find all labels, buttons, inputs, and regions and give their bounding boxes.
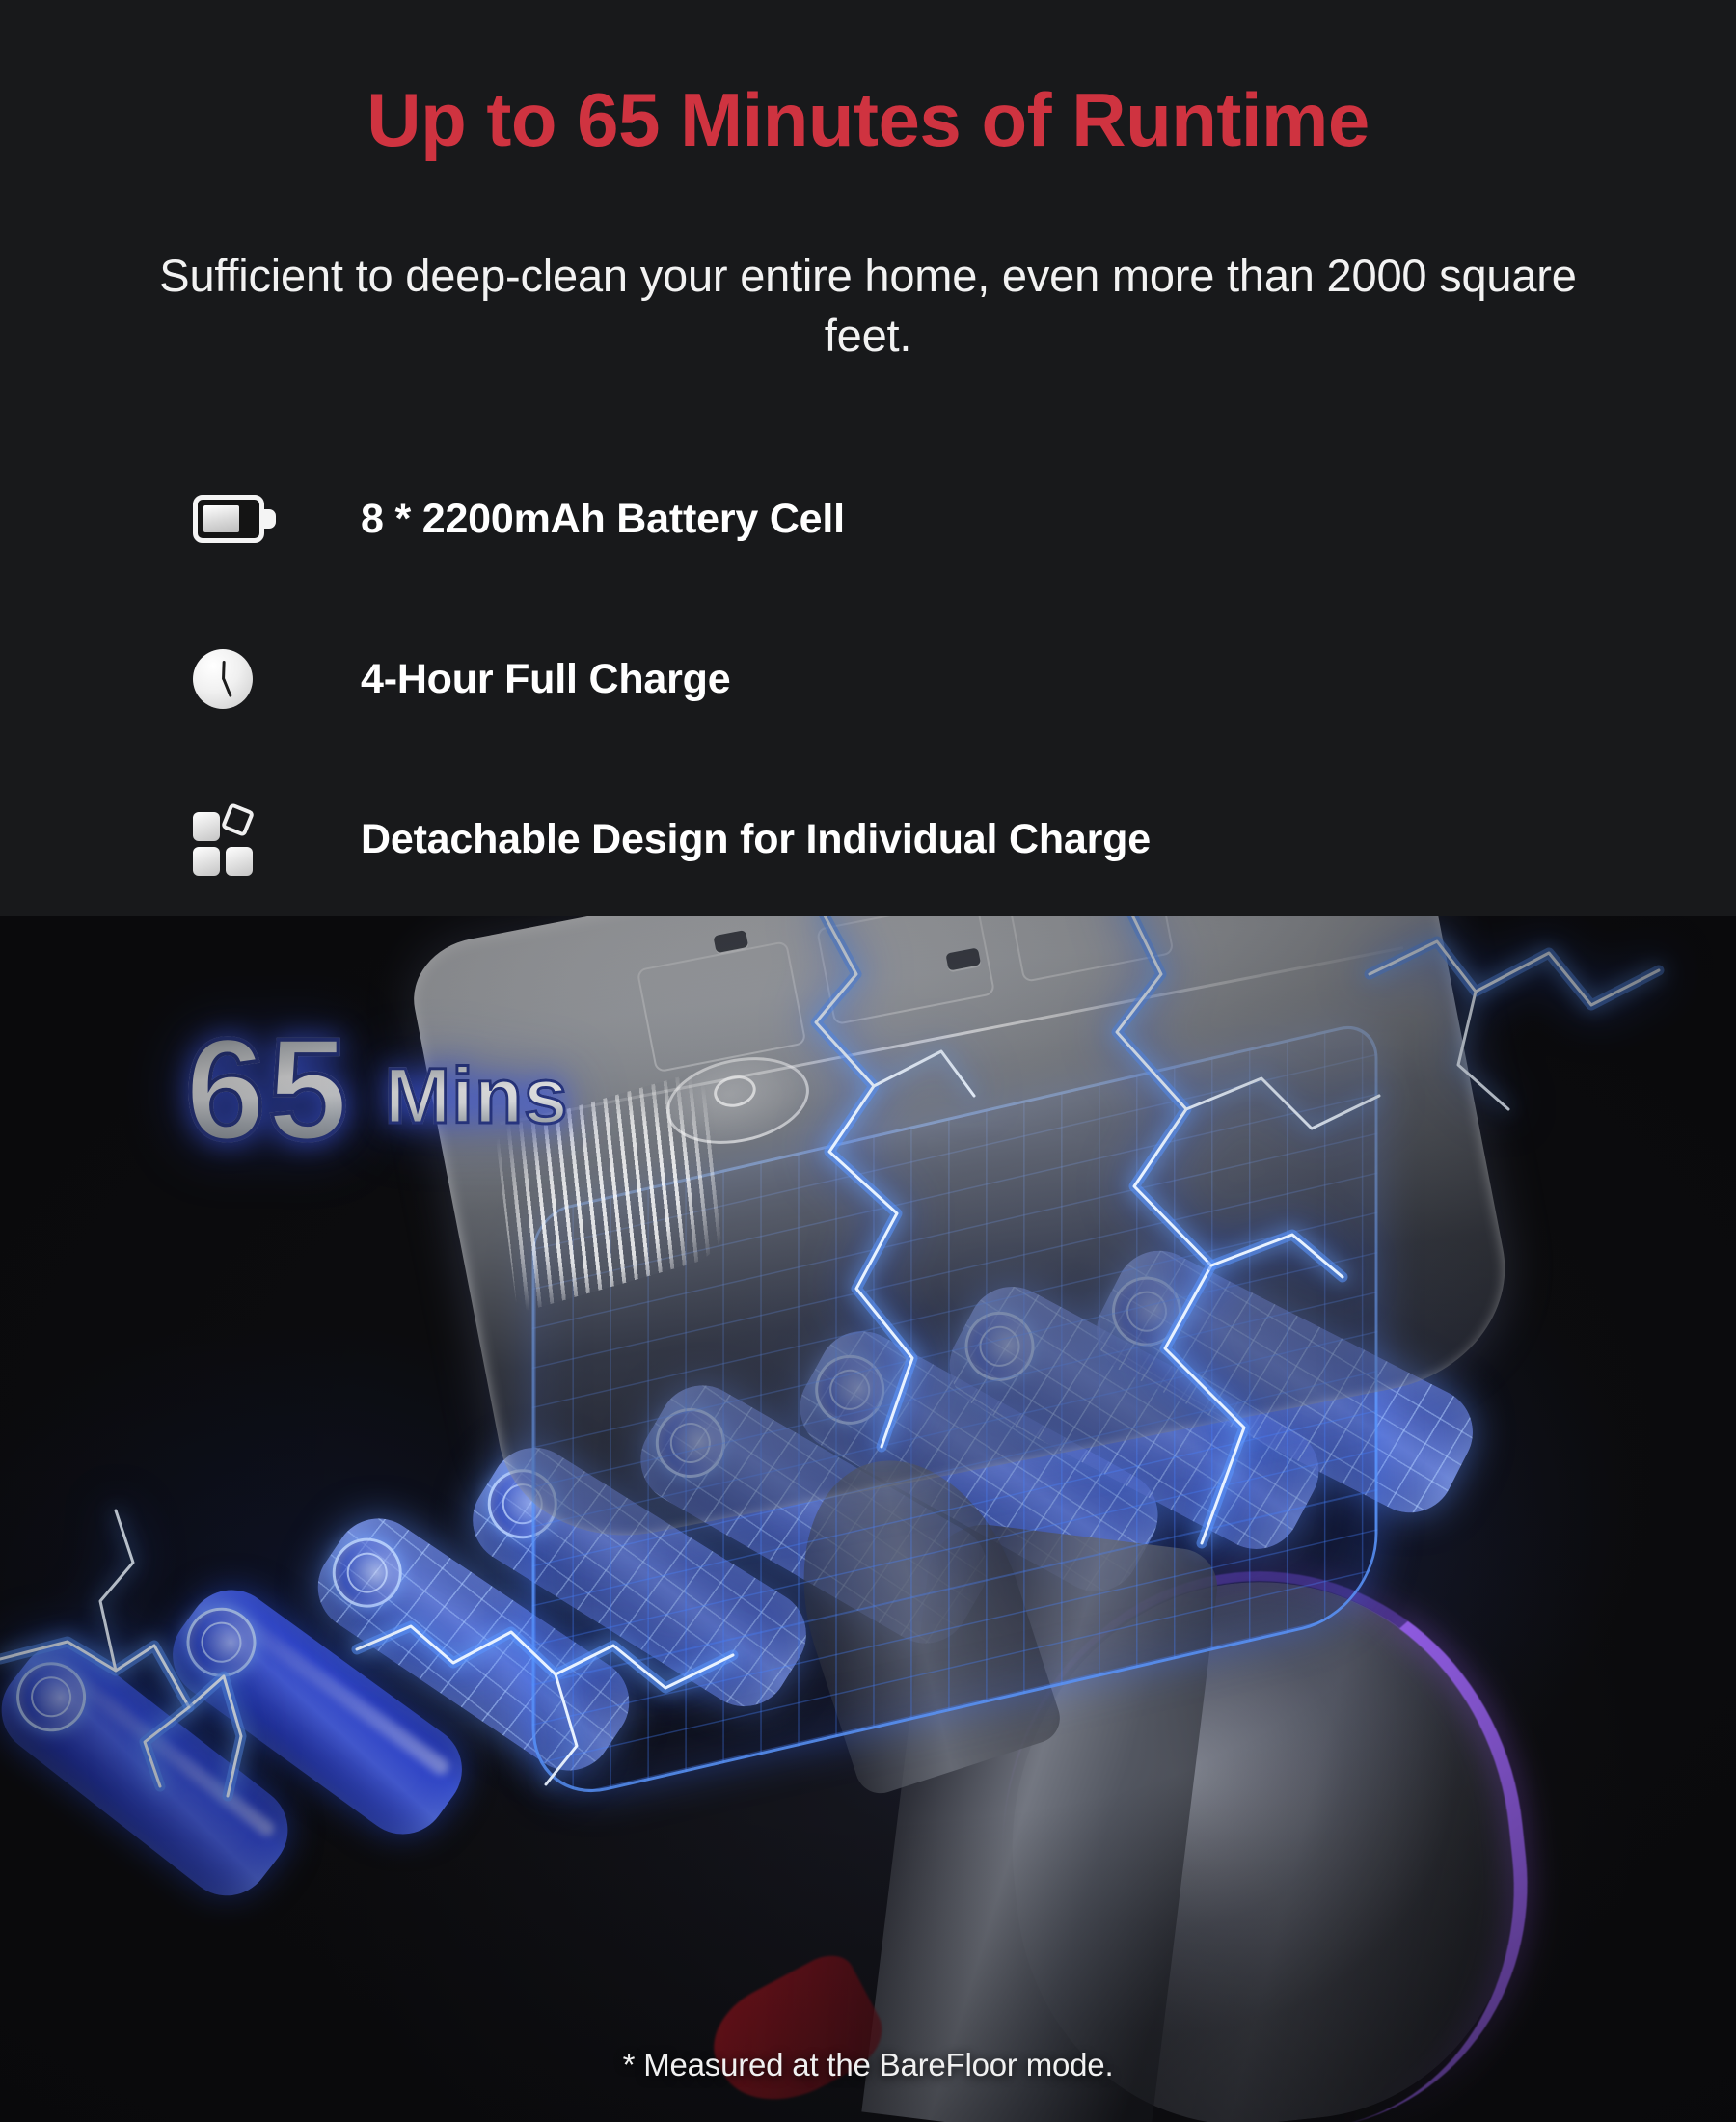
feature-item-battery: 8 * 2200mAh Battery Cell xyxy=(193,477,1543,560)
battery-icon-wrap xyxy=(193,477,285,560)
feature-label-detachable: Detachable Design for Individual Charge xyxy=(361,816,1151,863)
battery-fill xyxy=(203,505,239,532)
clock-icon xyxy=(193,649,253,709)
detach-block-bottom-left xyxy=(193,847,220,876)
battery-shell xyxy=(193,495,264,543)
product-hero-image: 65 Mins xyxy=(0,916,1736,2122)
feature-list: 8 * 2200mAh Battery Cell 4-Hour Full Cha… xyxy=(193,477,1543,958)
clock-icon-wrap xyxy=(193,638,285,721)
detach-block-top-left xyxy=(193,812,220,841)
promo-banner: Up to 65 Minutes of Runtime Sufficient t… xyxy=(0,0,1736,2122)
detachable-icon xyxy=(193,806,258,872)
housing-panel xyxy=(637,940,807,1073)
feature-label-battery: 8 * 2200mAh Battery Cell xyxy=(361,496,845,543)
detach-block-bottom-right xyxy=(226,847,253,876)
housing-panel xyxy=(816,916,995,1025)
runtime-value: 65 xyxy=(185,1022,350,1156)
detach-block-detached xyxy=(221,803,256,837)
battery-terminal xyxy=(264,509,276,529)
detachable-icon-wrap xyxy=(193,798,285,881)
feature-item-detachable: Detachable Design for Individual Charge xyxy=(193,798,1543,881)
feature-label-charge-time: 4-Hour Full Charge xyxy=(361,656,730,703)
page-title: Up to 65 Minutes of Runtime xyxy=(0,79,1736,162)
housing-panel xyxy=(1005,916,1175,982)
feature-item-charge-time: 4-Hour Full Charge xyxy=(193,638,1543,721)
housing-port-inner xyxy=(711,1073,759,1111)
battery-icon xyxy=(193,495,276,543)
footnote: * Measured at the BareFloor mode. xyxy=(0,2047,1736,2083)
page-subtitle: Sufficient to deep-clean your entire hom… xyxy=(154,246,1582,366)
